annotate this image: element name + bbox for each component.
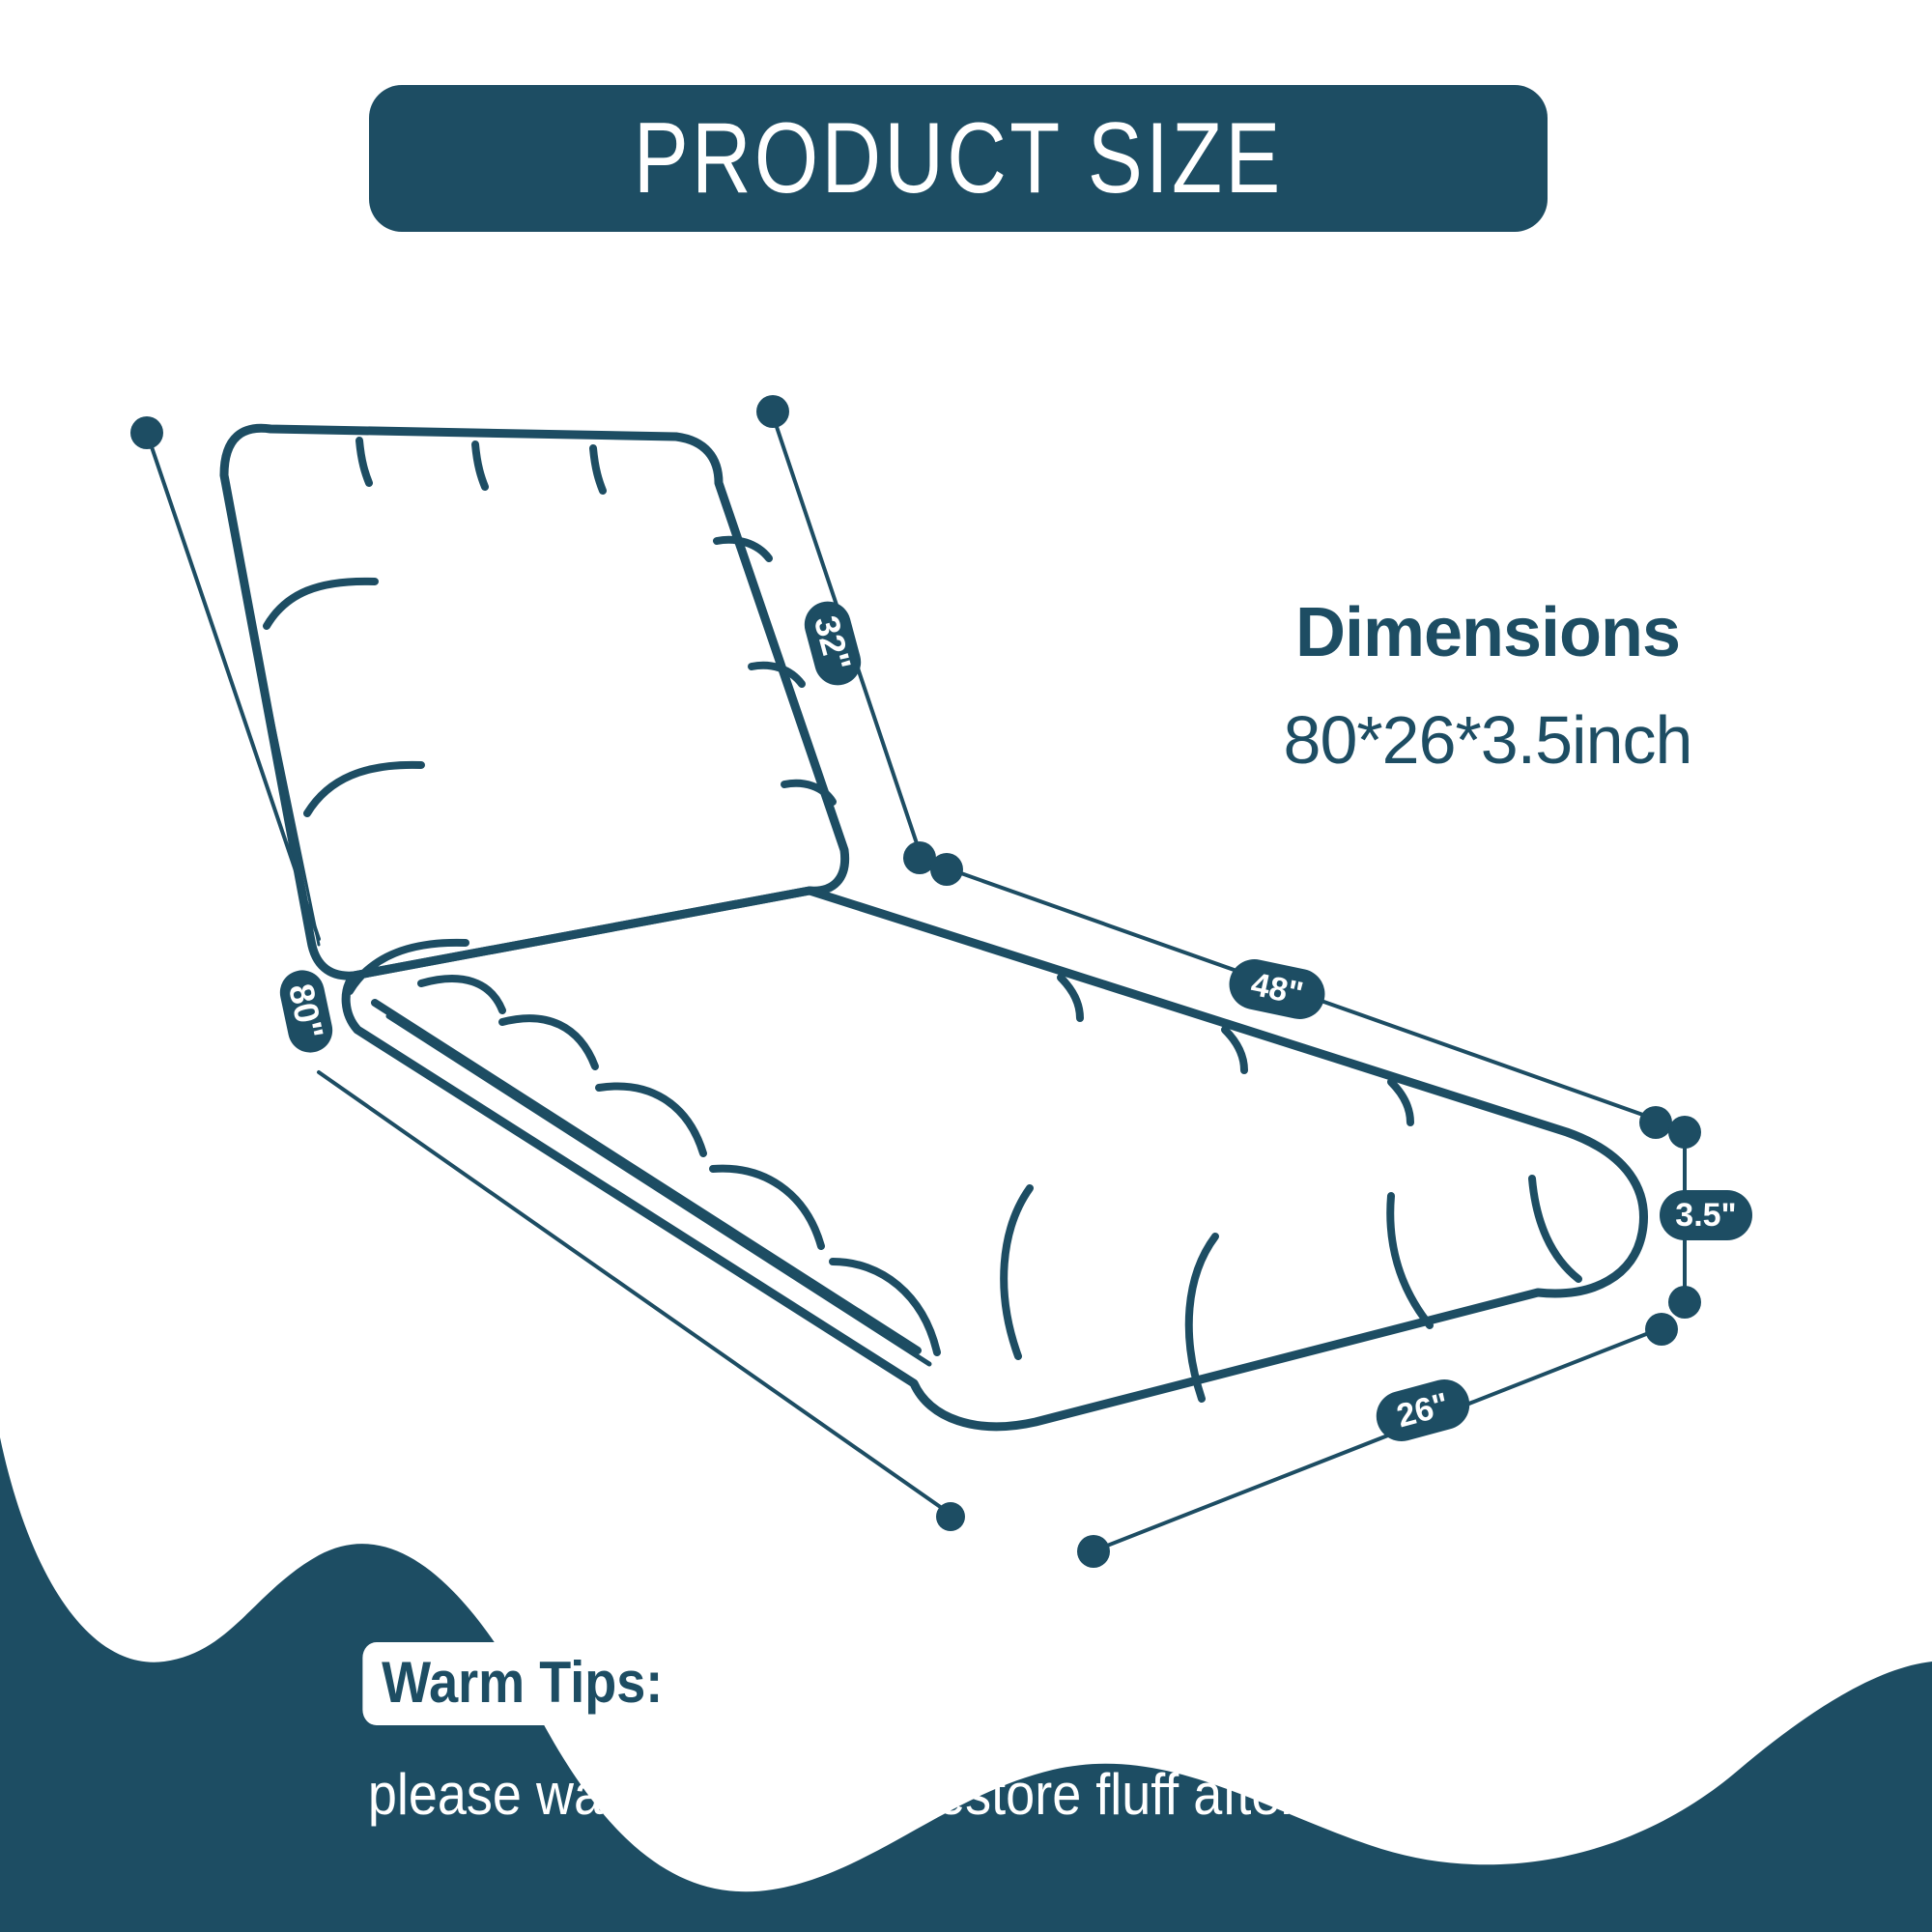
- dimensions-heading: Dimensions: [1150, 597, 1826, 670]
- quilt-curve: [752, 666, 802, 684]
- dimension-dot: [756, 395, 789, 428]
- dimension-dot: [1668, 1116, 1701, 1149]
- infographic-canvas: PRODUCT SIZE: [0, 0, 1932, 1932]
- dimension-badge-48: 48": [1225, 954, 1330, 1024]
- quilt-scallop: [713, 1169, 821, 1246]
- fold-line: [232, 522, 319, 945]
- dimension-dot: [130, 416, 163, 449]
- dimension-badge-80: 80": [276, 966, 337, 1057]
- page-title: PRODUCT SIZE: [634, 108, 1284, 209]
- seat-piping: [375, 1003, 918, 1350]
- warm-tips-text-2: please wait 48 hours to restore fluff af…: [368, 1766, 1565, 1824]
- quilt-curve: [350, 943, 466, 991]
- dimension-badge-32: 32": [799, 596, 866, 690]
- quilt-curve: [1390, 1196, 1430, 1325]
- quilt-curve: [717, 540, 769, 558]
- quilt-scallop: [421, 979, 502, 1010]
- warm-tips-text-1: The cushions are vacuum-sealed,: [760, 1655, 1543, 1713]
- seat-piping-inner: [388, 1016, 929, 1364]
- dimension-badge-48-label: 48": [1248, 965, 1307, 1012]
- dimension-dot: [930, 853, 963, 886]
- quilt-tick: [1225, 1030, 1244, 1070]
- dimensions-panel: Dimensions 80*26*3.5inch: [1150, 597, 1826, 776]
- dimension-badge-80-label: 80": [281, 980, 332, 1043]
- backrest-outline: [224, 428, 845, 976]
- quilt-curve: [1004, 1188, 1030, 1356]
- dimension-line-80-upper: [147, 433, 319, 939]
- dimension-dot: [903, 841, 936, 874]
- stitch-tick: [359, 440, 369, 483]
- dimension-dot: [1668, 1286, 1701, 1319]
- stitch-tick: [593, 448, 603, 491]
- warm-tips-line-1: Warm Tips: The cushions are vacuum-seale…: [345, 1642, 1587, 1725]
- warm-tips-section: Warm Tips: The cushions are vacuum-seale…: [0, 1642, 1932, 1824]
- quilt-tick: [1061, 978, 1080, 1018]
- quilt-tick: [1391, 1082, 1410, 1122]
- wave-divider: [0, 1333, 1932, 1932]
- quilt-scallop: [599, 1086, 703, 1153]
- quilt-scallop: [502, 1018, 595, 1066]
- dimension-badge-35-label: 3.5": [1675, 1197, 1736, 1235]
- header-banner: PRODUCT SIZE: [369, 85, 1548, 232]
- dimension-badge-32-label: 32": [806, 611, 859, 675]
- dimension-badge-35: 3.5": [1660, 1190, 1752, 1240]
- quilt-curve: [307, 765, 421, 813]
- stitch-tick: [475, 444, 485, 487]
- quilt-curve: [1532, 1179, 1578, 1279]
- dimensions-value: 80*26*3.5inch: [1150, 705, 1826, 777]
- quilt-curve: [267, 582, 375, 626]
- quilt-curve: [784, 783, 833, 802]
- warm-tips-chip: Warm Tips:: [362, 1642, 682, 1725]
- dimension-dot: [1639, 1106, 1672, 1139]
